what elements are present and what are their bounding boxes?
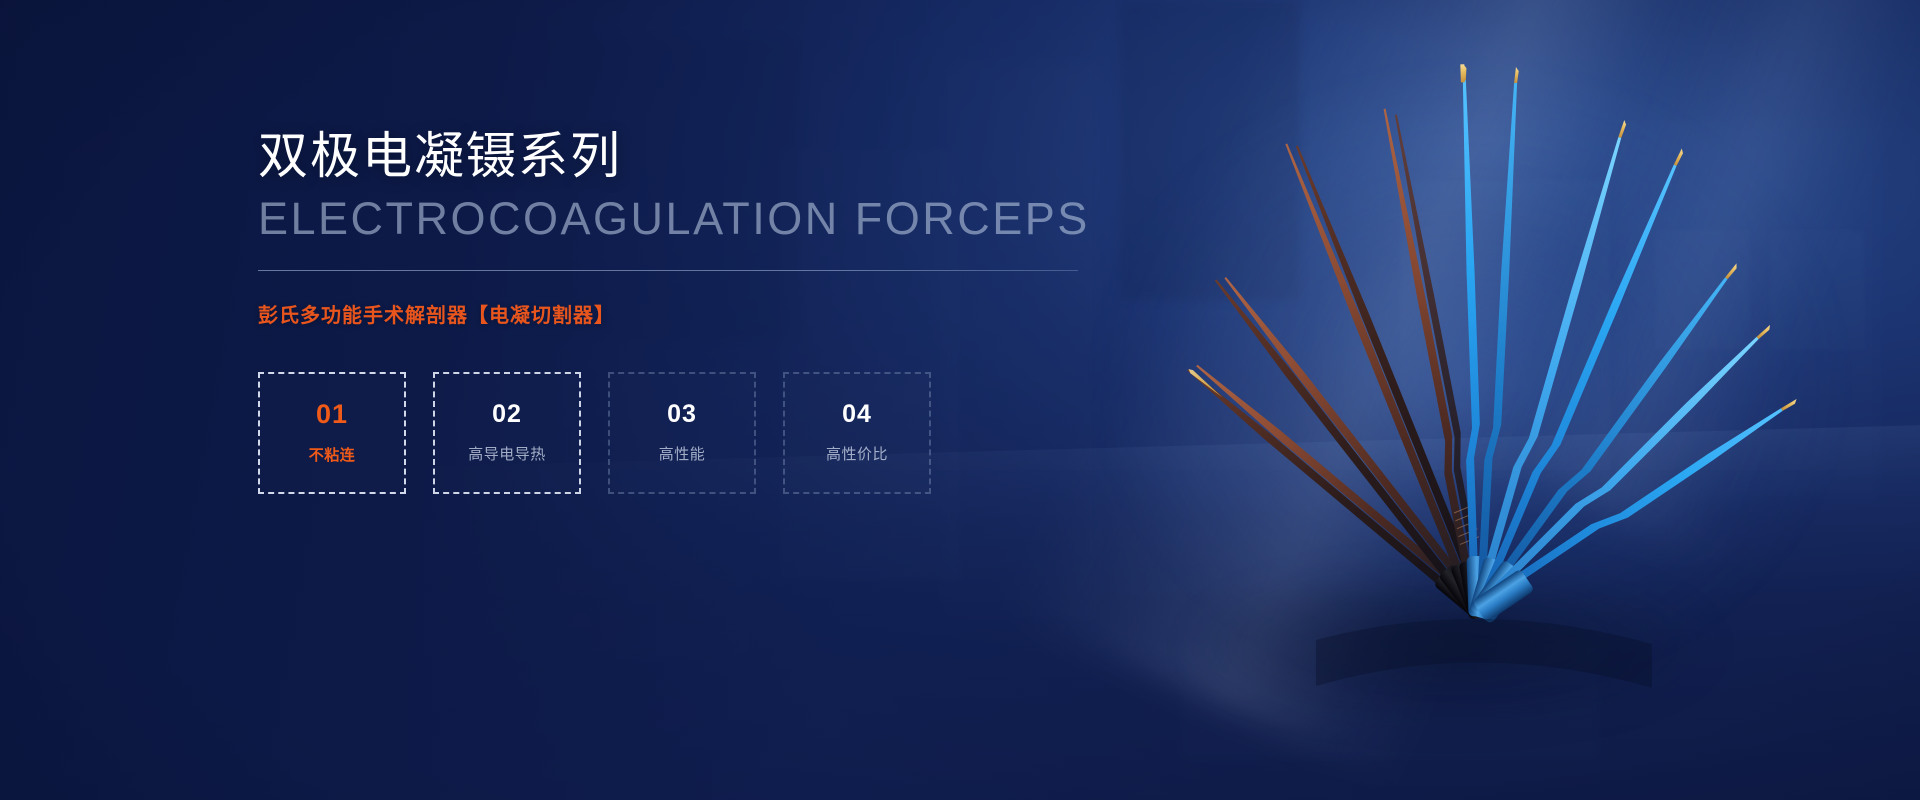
feature-card-01[interactable]: 01 不粘连 — [258, 372, 406, 494]
forceps-product-image — [1080, 40, 1860, 720]
feature-card-04[interactable]: 04 高性价比 — [783, 372, 931, 494]
feature-number: 02 — [492, 402, 522, 427]
feature-card-02[interactable]: 02 高导电导热 — [433, 372, 581, 494]
feature-label: 高性能 — [659, 443, 706, 464]
title-divider — [258, 270, 1078, 271]
feature-list: 01 不粘连 02 高导电导热 03 高性能 04 高性价比 — [258, 372, 1098, 494]
feature-card-03[interactable]: 03 高性能 — [608, 372, 756, 494]
feature-number: 03 — [667, 402, 697, 427]
feature-number: 04 — [842, 402, 872, 427]
feature-label: 高性价比 — [826, 443, 888, 464]
feature-label: 高导电导热 — [468, 443, 546, 464]
page-subtitle-english: ELECTROCOAGULATION FORCEPS — [258, 194, 1098, 244]
banner-content: 双极电凝镊系列 ELECTROCOAGULATION FORCEPS 彭氏多功能… — [258, 128, 1098, 494]
feature-number: 01 — [316, 401, 348, 428]
feature-label: 不粘连 — [309, 444, 356, 465]
page-title: 双极电凝镊系列 — [258, 128, 1098, 184]
product-banner: 双极电凝镊系列 ELECTROCOAGULATION FORCEPS 彭氏多功能… — [0, 0, 1920, 800]
product-tagline: 彭氏多功能手术解剖器【电凝切割器】 — [258, 299, 1098, 328]
